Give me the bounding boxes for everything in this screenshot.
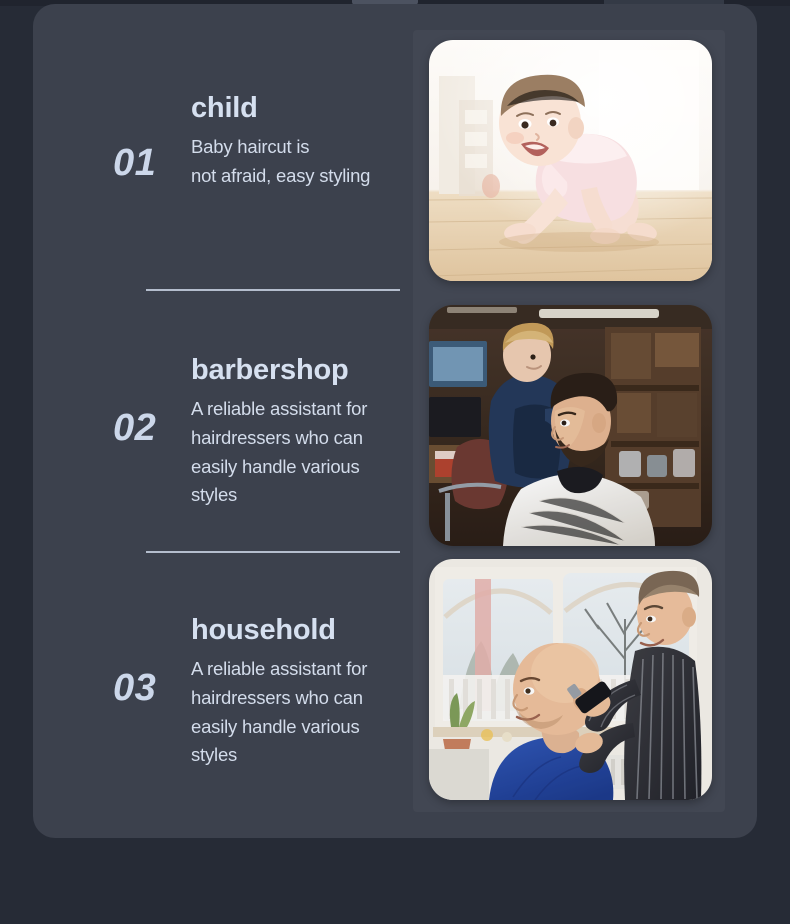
feature-divider [146,289,400,291]
feature-title: child [191,92,370,125]
feature-title: barbershop [191,354,367,387]
feature-description-line: A reliable assistant for [191,655,367,684]
feature-description-line: styles [191,481,367,510]
feature-description-line: easily handle various [191,713,367,742]
feature-description-line: hairdressers who can [191,424,367,453]
feature-description-line: hairdressers who can [191,684,367,713]
feature-item-child: 01 child Baby haircut is not afraid, eas… [113,92,370,191]
feature-photo-child [429,40,712,281]
feature-description-line: not afraid, easy styling [191,162,370,191]
features-text-column: 01 child Baby haircut is not afraid, eas… [33,4,415,838]
feature-description-line: A reliable assistant for [191,395,367,424]
feature-item-household: 03 household A reliable assistant for ha… [113,614,367,770]
feature-photo-household [429,559,712,800]
feature-description: A reliable assistant for hairdressers wh… [191,395,367,510]
feature-description-line: Baby haircut is [191,133,370,162]
feature-title: household [191,614,367,647]
feature-description: Baby haircut is not afraid, easy styling [191,133,370,190]
features-image-column [415,4,757,838]
feature-number: 01 [113,92,191,182]
feature-divider [146,551,400,553]
feature-photo-barbershop [429,305,712,546]
feature-number: 02 [113,354,191,447]
features-panel: 01 child Baby haircut is not afraid, eas… [33,4,757,838]
feature-description-line: easily handle various [191,453,367,482]
feature-number: 03 [113,614,191,707]
feature-description: A reliable assistant for hairdressers wh… [191,655,367,770]
feature-description-line: styles [191,741,367,770]
feature-item-barbershop: 02 barbershop A reliable assistant for h… [113,354,367,510]
